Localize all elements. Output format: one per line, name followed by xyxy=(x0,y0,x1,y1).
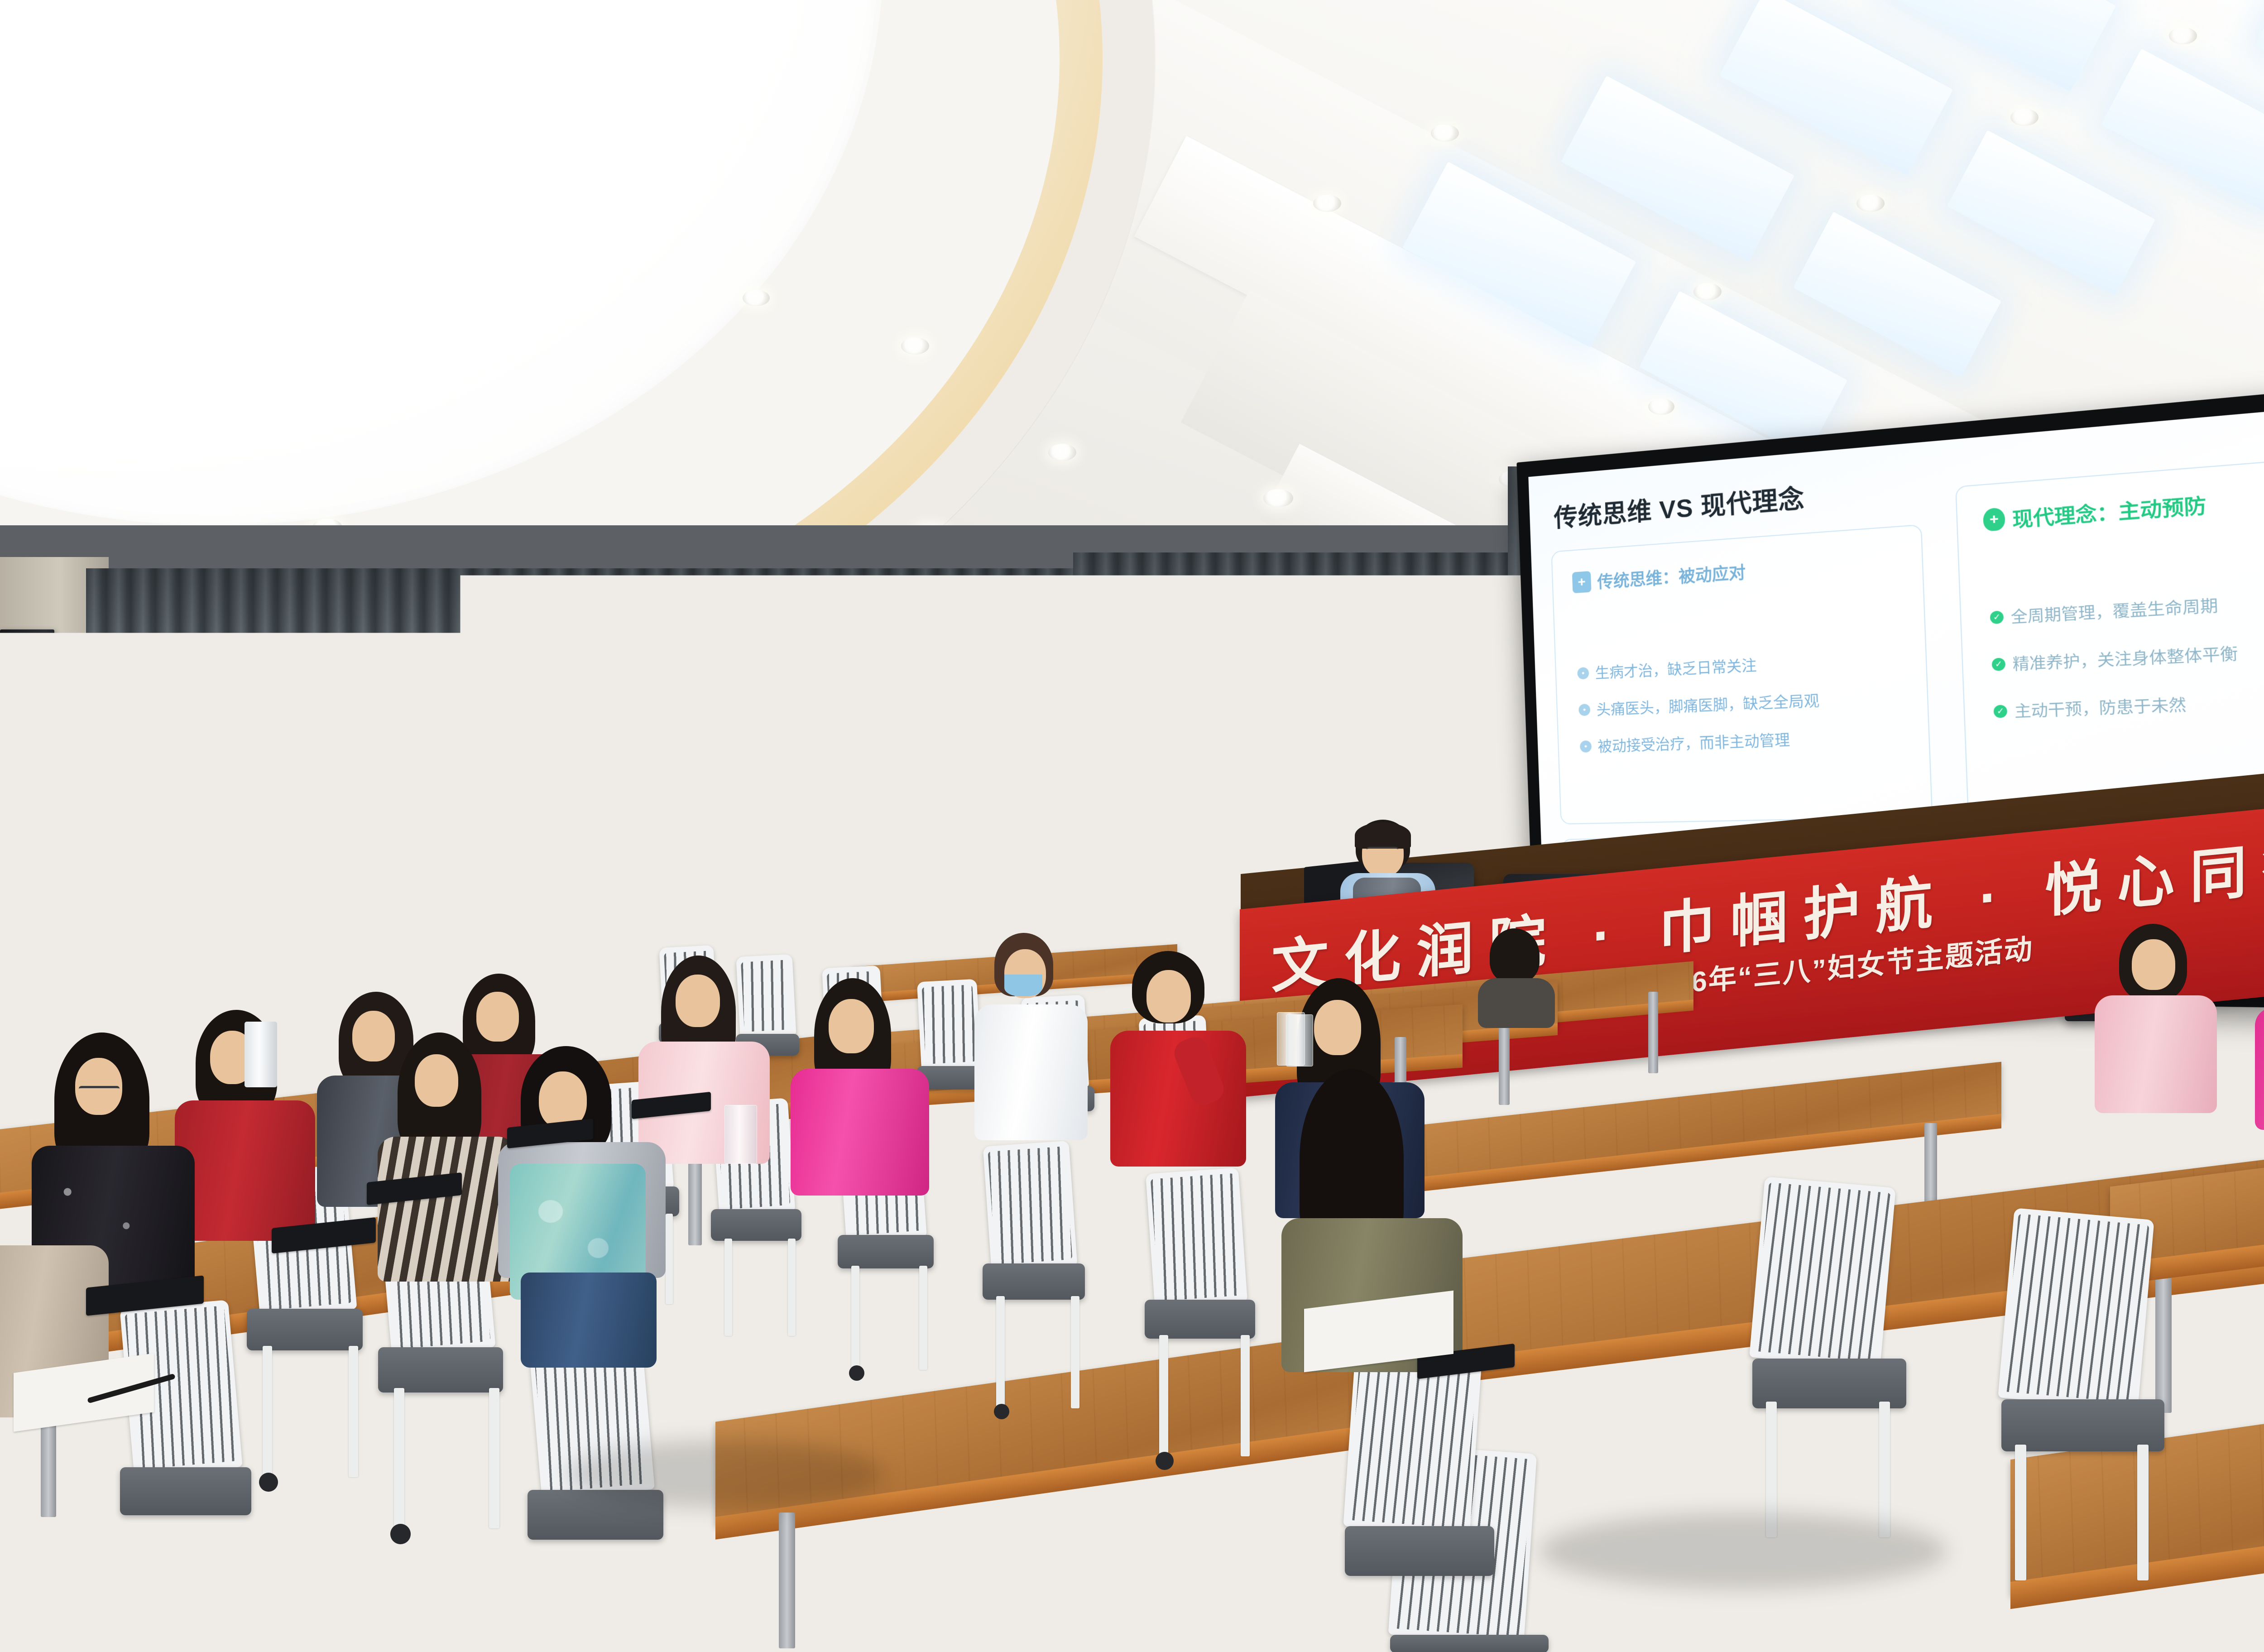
right-bullet: 全周期管理，覆盖生命周期 xyxy=(2010,595,2218,627)
downlight xyxy=(901,337,929,355)
attendee xyxy=(788,978,942,1200)
heart-plus-icon: + xyxy=(1983,507,2005,532)
wall-speaker xyxy=(0,629,54,752)
downlight xyxy=(743,290,770,306)
slide-title: 传统思维 VS 现代理念 xyxy=(1553,477,1805,534)
attendee xyxy=(1476,928,1558,1019)
right-bullet: 精准养护，关注身体整体平衡 xyxy=(2012,644,2238,674)
bullet-dot-icon: • xyxy=(1580,740,1592,753)
check-circle-icon: ✓ xyxy=(1991,658,2005,671)
bullet-dot-icon: • xyxy=(1577,667,1589,680)
left-bullet: 被动接受治疗，而非主动管理 xyxy=(1597,730,1790,756)
bullet-dot-icon: • xyxy=(1578,704,1590,716)
right-bullet: 主动干预，防患于未然 xyxy=(2014,695,2187,721)
slide-card-modern: + 现代理念：主动预防 ✓ 全周期管理，覆盖生命周期 ✓ 精准养护，关注身体整体… xyxy=(1955,441,2264,821)
downlight xyxy=(1856,195,1885,212)
check-circle-icon: ✓ xyxy=(1990,610,2004,624)
check-circle-icon: ✓ xyxy=(1993,705,2007,718)
attendee xyxy=(494,1046,675,1354)
downlight xyxy=(1313,195,1341,212)
slide-card-traditional: + 传统思维：被动应对 • 生病才治，缺乏日常关注 • 头痛医头，脚痛医脚，缺乏… xyxy=(1551,524,1933,825)
conference-room-photo: 传统思维 VS 现代理念 + 传统思维：被动应对 • 生病才治，缺乏日常关注 •… xyxy=(0,0,2264,1652)
downlight xyxy=(1263,489,1293,507)
downlight xyxy=(1648,399,1674,415)
right-card-heading: 现代理念：主动预防 xyxy=(2012,489,2207,533)
downlight xyxy=(2169,27,2197,44)
attendee xyxy=(2083,924,2232,1119)
left-card-heading: 传统思维：被动应对 xyxy=(1597,559,1746,593)
left-bullet: 头痛医头，脚痛医脚，缺乏全局观 xyxy=(1596,691,1820,719)
drinking-glass[interactable] xyxy=(724,1105,757,1164)
air-purifier-seam xyxy=(1004,915,1074,916)
attendee-nurse xyxy=(964,933,1100,1146)
downlight xyxy=(2010,109,2039,126)
downlight xyxy=(1693,283,1722,300)
face-mask-icon xyxy=(1004,975,1042,996)
glasses-icon xyxy=(1367,847,1398,852)
drinking-glass[interactable] xyxy=(1286,1014,1313,1066)
left-bullet: 生病才治，缺乏日常关注 xyxy=(1595,656,1757,682)
attendee xyxy=(2246,937,2264,1132)
glasses-icon xyxy=(79,1086,120,1091)
downlight xyxy=(1431,125,1459,142)
hospital-plus-icon: + xyxy=(1572,571,1592,593)
attendee xyxy=(1105,951,1259,1177)
downlight xyxy=(1048,444,1076,461)
tumbler-cup[interactable] xyxy=(245,1022,277,1087)
